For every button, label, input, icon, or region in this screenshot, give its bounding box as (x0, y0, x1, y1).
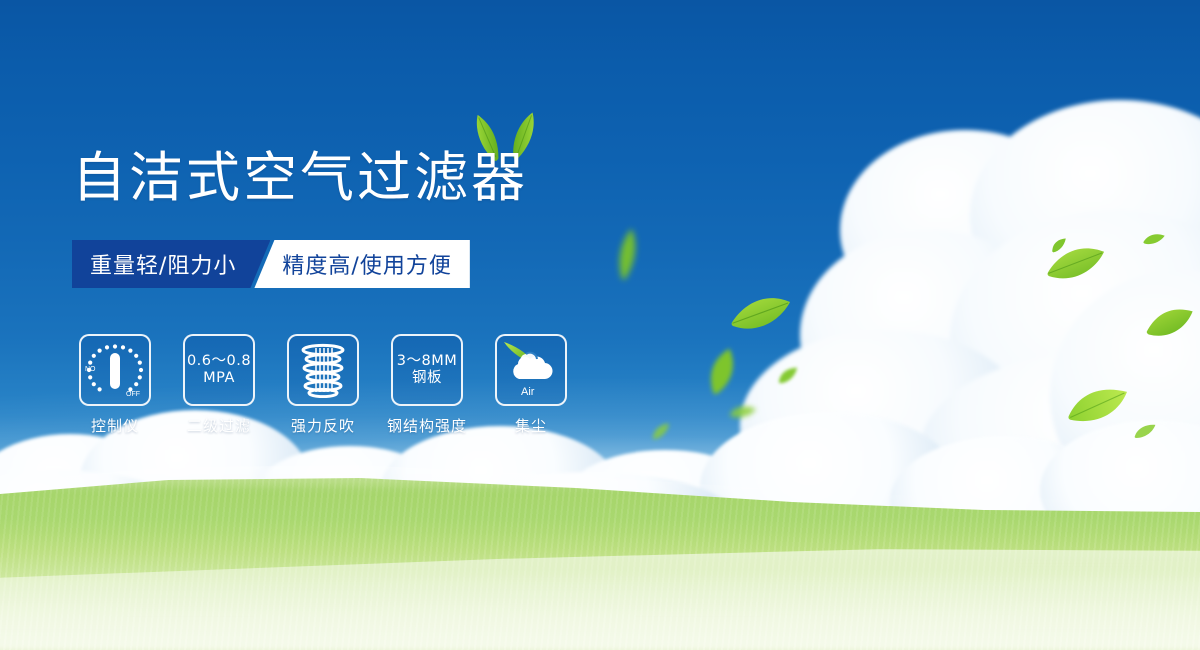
feature-item-pressure[interactable]: 0.6～0.8 MPA 二级过滤 (180, 334, 258, 436)
dial-on-label: NO (85, 366, 96, 373)
banner-content: 自洁式空气过滤器 重量轻/阻力小 精度高/使用方便 (0, 0, 1200, 650)
filter-stack-icon (296, 342, 350, 398)
pressure-range-line: 0.6～0.8 (187, 353, 251, 369)
feature-item-blowback[interactable]: 强力反吹 (284, 334, 362, 436)
feature-item-controller[interactable]: NO OFF 控制仪 (76, 334, 154, 436)
feature-icon-box: 0.6～0.8 MPA (183, 334, 255, 406)
pressure-text-icon: 0.6～0.8 MPA (187, 353, 251, 387)
feature-label: 集尘 (515, 415, 547, 436)
dial-off-label: OFF (126, 391, 140, 398)
cloud-air-icon: Air (500, 340, 562, 400)
feature-icon-box: Air (495, 334, 567, 406)
feature-icon-box: NO OFF (79, 334, 151, 406)
steel-material-line: 钢板 (412, 370, 442, 386)
gauge-dial-icon: NO OFF (84, 340, 146, 400)
subtitle-right-segment: 精度高/使用方便 (254, 240, 469, 288)
feature-label: 钢结构强度 (387, 415, 467, 436)
feature-item-dust-collection[interactable]: Air 集尘 (492, 334, 570, 436)
feature-label: 二级过滤 (187, 415, 251, 436)
feature-list: NO OFF 控制仪 0.6～0.8 MPA 二级过滤 (76, 334, 570, 436)
air-label: Air (521, 386, 535, 398)
steel-thickness-line: 3～8MM (397, 353, 457, 369)
subtitle-ribbon: 重量轻/阻力小 精度高/使用方便 (72, 240, 470, 288)
page-title: 自洁式空气过滤器 (72, 146, 528, 210)
feature-label: 控制仪 (91, 415, 139, 436)
subtitle-left-segment: 重量轻/阻力小 (72, 240, 270, 288)
steel-plate-text-icon: 3～8MM 钢板 (397, 353, 457, 387)
pressure-unit-line: MPA (203, 370, 235, 386)
promo-banner: 自洁式空气过滤器 重量轻/阻力小 精度高/使用方便 (0, 0, 1200, 650)
feature-label: 强力反吹 (291, 415, 355, 436)
feature-icon-box: 3～8MM 钢板 (391, 334, 463, 406)
feature-item-steel[interactable]: 3～8MM 钢板 钢结构强度 (388, 334, 466, 436)
feature-icon-box (287, 334, 359, 406)
